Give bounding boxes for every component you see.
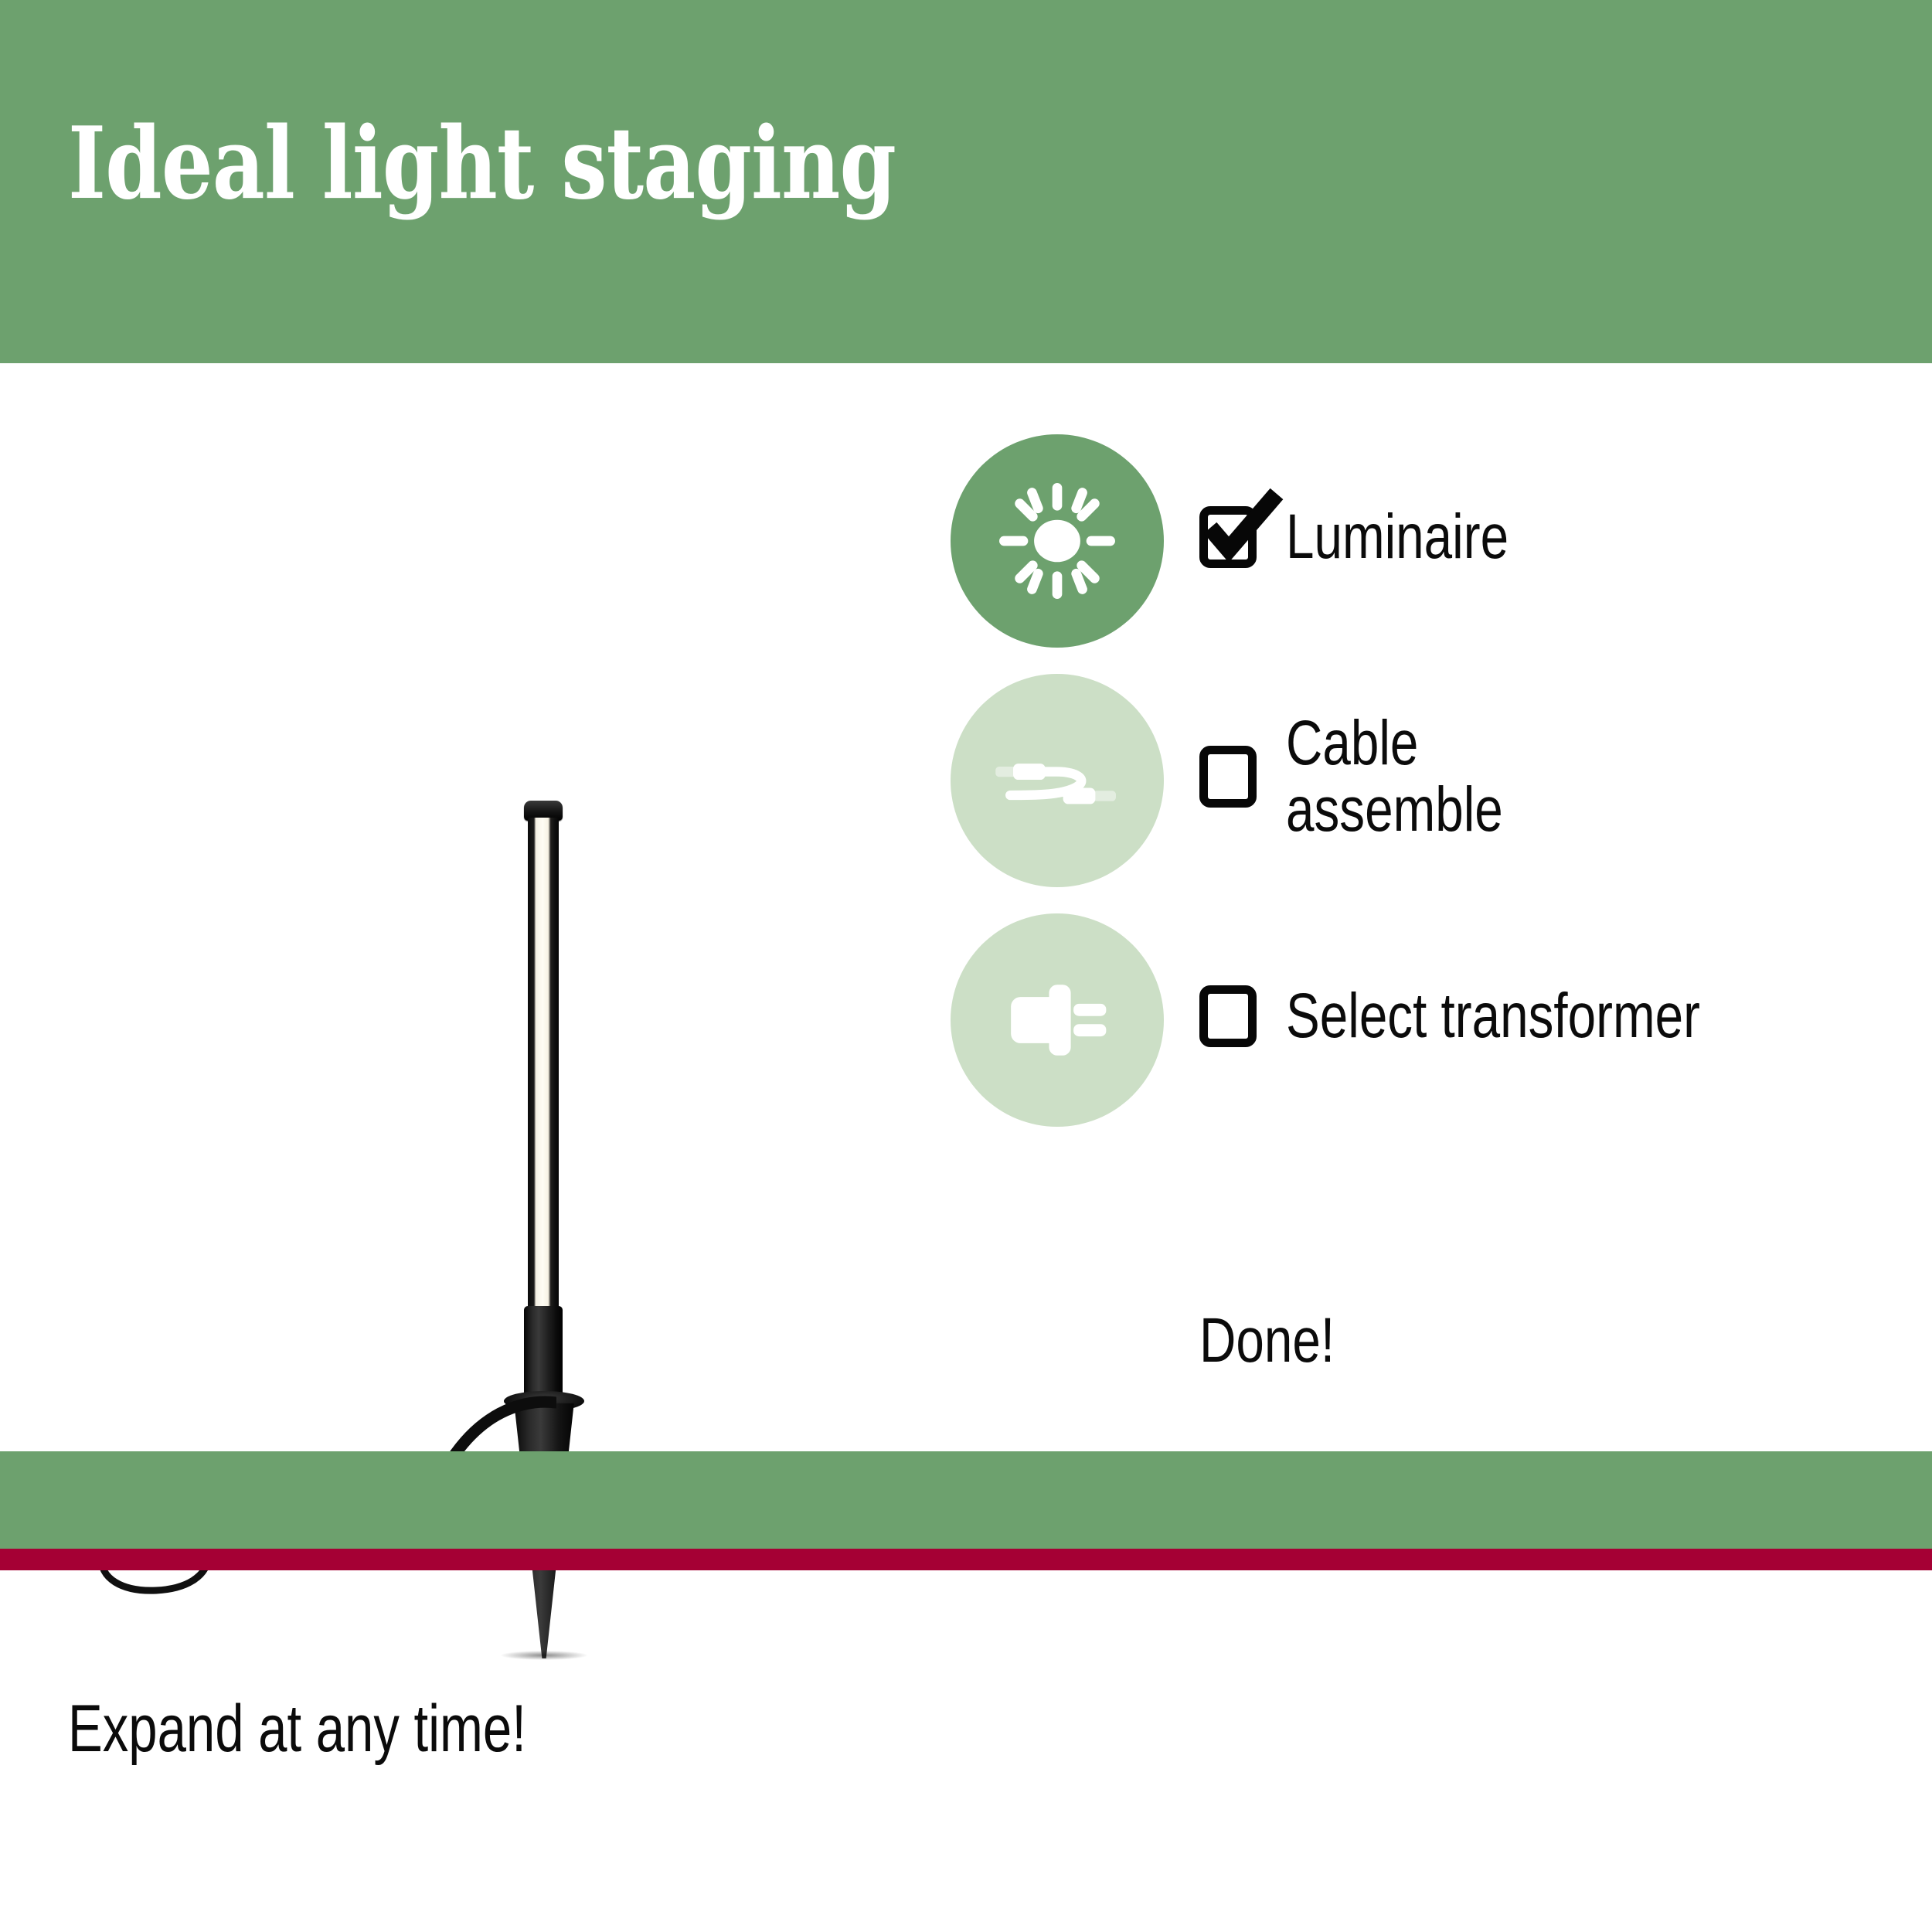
checkbox-select-transformer[interactable] — [1199, 985, 1257, 1047]
footer-red-band — [0, 1549, 1932, 1570]
checkbox-luminaire[interactable] — [1199, 506, 1257, 568]
checkmark-icon — [1201, 488, 1287, 568]
checklist-label-luminaire: Luminaire — [1286, 504, 1509, 570]
product-image — [31, 386, 896, 1314]
footer-green-band — [0, 1451, 1932, 1549]
power-plug-icon-badge — [951, 913, 1164, 1127]
checklist-row-cable-right: Cable assemble — [1199, 657, 1557, 896]
spike-shadow — [501, 1651, 587, 1660]
checklist-label-cable-line1: Cable — [1286, 710, 1503, 777]
cable-icon-badge — [951, 674, 1164, 887]
expand-note: Expand at any time! — [68, 1692, 1032, 1766]
checklist: Luminaire Cable assemble — [951, 417, 1878, 1136]
power-plug-icon — [989, 952, 1125, 1088]
checklist-row-luminaire[interactable]: Luminaire — [951, 417, 1878, 657]
led-strip-part — [528, 818, 559, 1316]
checkbox-box — [1199, 746, 1257, 808]
sun-icon-badge — [951, 434, 1164, 648]
checklist-label-cable-assemble: Cable assemble — [1286, 710, 1557, 843]
checkbox-box — [1199, 985, 1257, 1047]
checkbox-cable-assemble[interactable] — [1199, 746, 1257, 808]
sun-icon — [989, 473, 1125, 609]
cable-icon — [984, 707, 1131, 854]
checklist-row-transformer-right: Select transformer — [1199, 896, 1804, 1136]
checklist-row-luminaire-right: Luminaire — [1199, 417, 1564, 657]
page-title: Ideal light staging — [68, 112, 1526, 216]
checklist-row-cable[interactable]: Cable assemble — [951, 657, 1878, 896]
checklist-label-select-transformer: Select transformer — [1286, 983, 1700, 1049]
checklist-row-transformer[interactable]: Select transformer — [951, 896, 1878, 1136]
done-text: Done! — [1199, 1304, 1335, 1377]
checklist-label-cable-line2: assemble — [1286, 777, 1503, 843]
